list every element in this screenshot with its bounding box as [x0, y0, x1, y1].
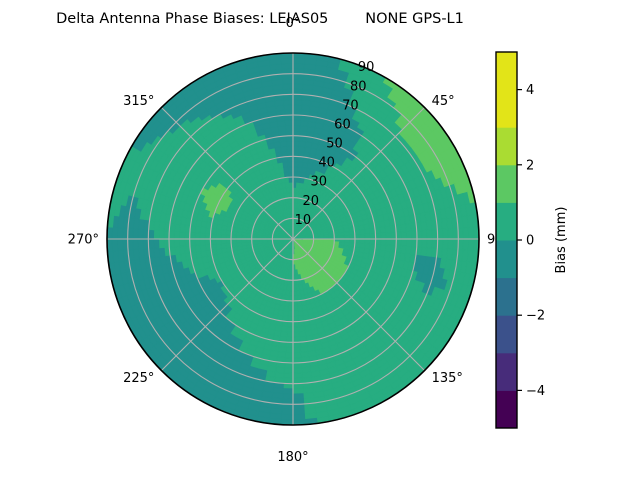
contour-cell — [381, 233, 386, 239]
contour-cell — [200, 239, 205, 245]
contour-cell — [285, 352, 293, 357]
contour-cell — [210, 234, 215, 239]
contour-cell — [422, 239, 427, 248]
contour-cell — [283, 162, 288, 168]
contour-cell — [293, 58, 305, 64]
contour-cell — [293, 311, 298, 316]
polar-plot-svg: 0°45°90135°180°225°270°315°1020304050607… — [0, 0, 520, 480]
contour-cell — [293, 151, 299, 156]
contour-cell — [174, 239, 179, 247]
contour-cell — [285, 363, 293, 368]
contour-cell — [174, 231, 179, 239]
contour-cell — [210, 239, 215, 244]
contour-cell — [288, 316, 293, 321]
contour-cell — [159, 230, 164, 239]
contour-cell — [282, 63, 293, 69]
contour-cell — [138, 229, 143, 239]
contour-cell — [138, 239, 143, 249]
colorbar-group: −4−2024 — [496, 52, 545, 429]
contour-cell — [282, 409, 293, 415]
contour-cell — [286, 337, 293, 342]
angular-tick-label-45: 45° — [432, 94, 455, 109]
contour-cell — [205, 233, 210, 239]
contour-cell — [365, 239, 370, 244]
contour-cell — [179, 239, 184, 246]
contour-cell — [281, 58, 293, 64]
contour-cell — [185, 239, 190, 246]
colorbar-axes: −4−2024Bias (mm) — [480, 0, 640, 480]
contour-cell — [288, 156, 293, 161]
colorbar-band-3 — [496, 278, 517, 316]
contour-cell — [427, 230, 432, 239]
contour-cell — [463, 228, 469, 239]
contour-cell — [283, 394, 293, 399]
contour-cell — [190, 239, 195, 246]
contour-cell — [286, 342, 293, 347]
contour-cell — [293, 316, 298, 321]
colorbar-band-1 — [496, 353, 517, 391]
contour-cell — [128, 228, 134, 239]
contour-cell — [293, 136, 300, 141]
contour-cell — [284, 373, 293, 378]
contour-cell — [185, 232, 190, 239]
contour-cell — [287, 332, 293, 337]
contour-cell — [412, 239, 417, 247]
contour-cell — [287, 151, 293, 156]
contour-cell — [386, 239, 391, 245]
contour-cell — [117, 239, 123, 250]
colorbar-tick-label-2: 2 — [526, 158, 534, 173]
contour-cell — [293, 358, 301, 363]
contour-cell — [190, 232, 195, 239]
contour-cell — [164, 239, 169, 247]
contour-cell — [287, 141, 293, 146]
contour-cell — [406, 239, 411, 247]
colorbar-band-0 — [496, 390, 517, 428]
contour-cell — [406, 231, 411, 239]
contour-cell — [391, 232, 396, 239]
contour-cell — [285, 358, 293, 363]
contour-cell — [288, 167, 293, 172]
contour-cell — [231, 239, 236, 243]
contour-cell — [293, 373, 302, 378]
contour-cell — [448, 229, 453, 239]
contour-cell — [293, 399, 304, 405]
contour-cell — [396, 232, 401, 239]
contour-cell — [293, 131, 300, 136]
contour-cell — [293, 63, 304, 69]
contour-cell — [448, 239, 453, 249]
contour-cell — [293, 332, 299, 337]
colorbar-band-2 — [496, 315, 517, 353]
contour-cell — [285, 120, 293, 125]
contour-cell — [293, 167, 298, 172]
contour-cell — [293, 378, 302, 383]
contour-cell — [159, 239, 164, 248]
colorbar-band-7 — [496, 127, 517, 165]
contour-cell — [463, 239, 469, 250]
contour-cell — [293, 327, 299, 332]
contour-cell — [133, 239, 138, 249]
contour-cell — [288, 162, 293, 167]
angular-tick-label-0: 0° — [286, 16, 301, 31]
colorbar-tick-label-4: 4 — [526, 83, 534, 98]
contour-cell — [179, 232, 184, 239]
contour-cell — [345, 235, 350, 239]
contour-cell — [216, 234, 221, 239]
angular-tick-label-180: 180° — [277, 450, 308, 465]
angular-tick-label-225: 225° — [123, 371, 154, 386]
contour-cell — [287, 146, 293, 151]
contour-cell — [236, 239, 241, 243]
contour-cell — [286, 131, 293, 136]
contour-cell — [375, 239, 380, 245]
contour-cell — [285, 115, 293, 120]
contour-cell — [453, 228, 459, 239]
radial-tick-label-50: 50 — [326, 137, 343, 152]
contour-cell — [453, 239, 459, 250]
colorbar-band-4 — [496, 240, 517, 278]
radial-tick-label-80: 80 — [350, 79, 367, 94]
contour-cell — [293, 291, 297, 296]
contour-cell — [281, 414, 293, 420]
contour-cell — [289, 177, 293, 182]
contour-cell — [117, 228, 123, 239]
contour-cell — [169, 231, 174, 239]
contour-cell — [221, 243, 227, 248]
colorbar-band-5 — [496, 202, 517, 240]
colorbar-tick-label--4: −4 — [526, 384, 545, 399]
contour-cell — [289, 182, 293, 187]
contour-cell — [288, 306, 293, 311]
contour-cell — [286, 347, 293, 352]
contour-cell — [221, 234, 226, 239]
contour-cell — [287, 321, 293, 326]
contour-cell — [293, 394, 303, 399]
contour-cell — [283, 389, 293, 394]
radial-tick-label-10: 10 — [295, 213, 312, 228]
contour-cell — [293, 389, 303, 394]
contour-cell — [293, 409, 304, 415]
polar-grid — [107, 53, 479, 425]
colorbar-tick-label-0: 0 — [526, 234, 534, 249]
contour-cell — [200, 233, 205, 239]
colorbar-tick-label--2: −2 — [526, 309, 545, 324]
contour-cell — [381, 239, 386, 245]
contour-cell — [284, 167, 289, 173]
contour-cell — [283, 79, 293, 84]
contour-cell — [293, 110, 301, 115]
radial-tick-label-40: 40 — [318, 156, 335, 171]
contour-cell — [297, 306, 302, 312]
contour-cell — [350, 235, 355, 239]
contour-cell — [282, 399, 293, 405]
contour-cell — [427, 239, 432, 248]
contour-cell — [293, 162, 298, 167]
contour-cell — [293, 347, 300, 352]
contour-cell — [396, 239, 401, 246]
contour-cell — [284, 105, 293, 110]
angular-tick-label-270: 270° — [68, 233, 99, 248]
contour-cell — [293, 342, 300, 347]
contour-cell — [293, 74, 304, 80]
contour-cell — [284, 100, 293, 105]
contour-cell — [293, 414, 305, 420]
contour-cell — [289, 172, 293, 177]
contour-cell — [283, 84, 293, 89]
contour-cell — [284, 378, 293, 383]
contour-cell — [128, 239, 134, 250]
contour-cell — [360, 234, 365, 239]
contour-cell — [293, 120, 301, 125]
contour-cell — [286, 136, 293, 141]
colorbar-band-8 — [496, 90, 517, 128]
contour-cell — [417, 239, 422, 247]
contour-cell — [285, 110, 293, 115]
contour-cell — [287, 327, 293, 332]
matplotlib-figure: Delta Antenna Phase Biases: LEIAS05 NONE… — [0, 0, 640, 480]
colorbar-band-6 — [496, 165, 517, 203]
contour-cell — [293, 296, 297, 301]
contour-cell — [154, 239, 159, 248]
contour-cell — [293, 337, 300, 342]
contour-cell — [293, 363, 301, 368]
radial-tick-label-90: 90 — [358, 60, 375, 75]
radial-tick-label-20: 20 — [303, 194, 320, 209]
contour-cell — [288, 311, 293, 316]
contour-cell — [293, 301, 297, 306]
contour-cell — [133, 229, 138, 239]
contour-cell — [293, 321, 299, 326]
contour-cell — [422, 230, 427, 239]
contour-cell — [417, 231, 422, 239]
contour-cell — [293, 100, 302, 105]
contour-cell — [293, 352, 301, 357]
contour-cell — [365, 229, 371, 234]
contour-cell — [284, 94, 293, 99]
contour-cell — [195, 233, 200, 239]
contour-cell — [216, 239, 221, 244]
contour-cell — [148, 239, 153, 248]
contour-cell — [112, 227, 118, 239]
contour-cell — [293, 79, 303, 84]
contour-cell — [401, 239, 406, 246]
radial-tick-label-70: 70 — [342, 98, 359, 113]
contour-cell — [432, 230, 437, 239]
contour-cell — [375, 233, 380, 239]
contour-cell — [205, 239, 210, 245]
contour-cell — [401, 232, 406, 239]
contour-cell — [216, 244, 222, 249]
contour-cell — [412, 231, 417, 239]
contour-cell — [370, 234, 375, 239]
contour-cell — [360, 239, 365, 244]
contour-cell — [293, 306, 298, 311]
contour-cell — [164, 231, 169, 239]
contour-cell — [284, 368, 293, 373]
contour-cell — [443, 239, 448, 249]
contour-cell — [468, 239, 474, 251]
contour-cell — [293, 125, 300, 130]
colorbar-axis-label: Bias (mm) — [554, 207, 569, 274]
angular-tick-label-315: 315° — [123, 94, 154, 109]
contour-cell — [282, 74, 293, 80]
contour-cell — [293, 115, 301, 120]
contour-cell — [226, 239, 231, 243]
polar-axes: 0°45°90135°180°225°270°315°1020304050607… — [0, 0, 520, 480]
contour-cell — [293, 156, 298, 161]
colorbar-band-9 — [496, 52, 517, 90]
contour-cell — [391, 239, 396, 246]
contour-cell — [370, 239, 375, 244]
contour-cell — [169, 239, 174, 247]
angular-tick-label-135: 135° — [432, 371, 463, 386]
contour-cell — [293, 146, 299, 151]
radial-tick-label-60: 60 — [334, 117, 351, 132]
contour-cell — [365, 234, 370, 239]
contour-cell — [293, 84, 303, 89]
contour-cell — [293, 368, 302, 373]
contour-cell — [293, 94, 302, 99]
contour-cell — [112, 239, 118, 251]
contour-cell — [286, 125, 293, 130]
contour-cell — [148, 230, 153, 239]
contour-cell — [468, 227, 474, 239]
contour-cell — [298, 311, 303, 317]
contour-cell — [355, 235, 360, 239]
contour-cell — [432, 239, 437, 248]
contour-cell — [195, 239, 200, 245]
contour-cell — [386, 233, 391, 239]
contour-cell — [443, 229, 448, 239]
contour-cell — [293, 141, 299, 146]
contour-cell — [154, 230, 159, 239]
radial-tick-label-30: 30 — [310, 175, 327, 190]
contour-cell — [360, 230, 366, 235]
contour-cell — [221, 239, 226, 244]
contour-cell — [293, 105, 302, 110]
